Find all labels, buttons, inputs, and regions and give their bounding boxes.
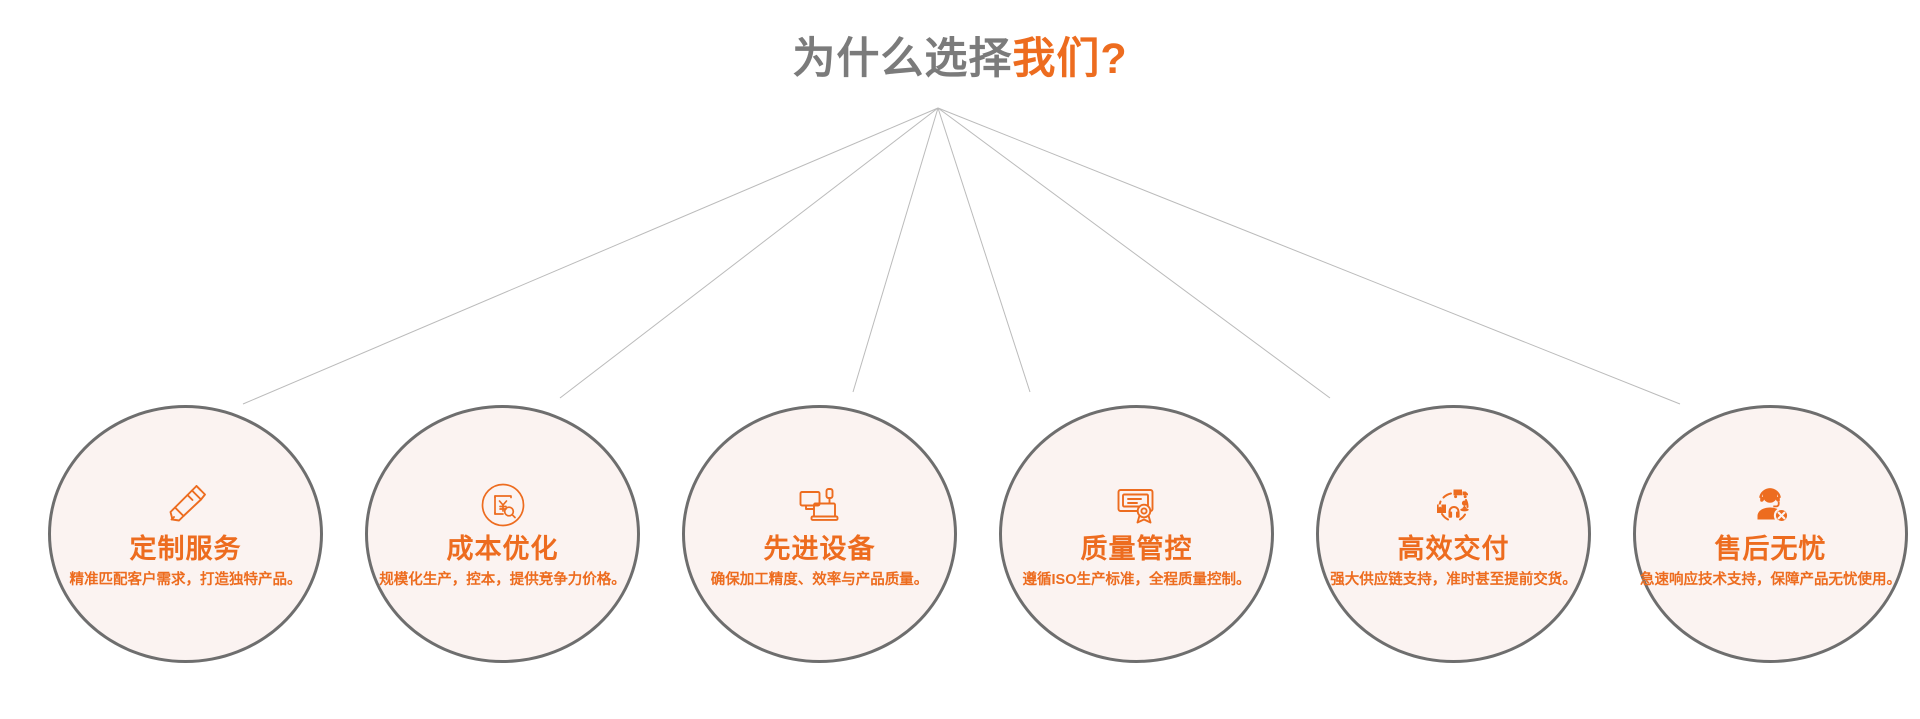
feature-circle-5[interactable]: 高效交付 强大供应链支持，准时甚至提前交货。 <box>1316 405 1591 663</box>
support-agent-icon <box>1745 479 1797 531</box>
connector-line-6 <box>938 108 1680 404</box>
connector-line-4 <box>938 108 1030 392</box>
feature-desc: 强大供应链支持，准时甚至提前交货。 <box>1330 572 1577 589</box>
feature-title: 高效交付 <box>1398 535 1510 565</box>
connector-line-3 <box>853 108 938 392</box>
supply-chain-icon <box>1428 479 1480 531</box>
connector-line-2 <box>560 108 938 398</box>
connector-line-1 <box>243 108 938 404</box>
feature-title: 成本优化 <box>447 535 559 565</box>
feature-desc: 精准匹配客户需求，打造独特产品。 <box>70 572 302 589</box>
feature-circle-3[interactable]: 先进设备 确保加工精度、效率与产品质量。 <box>682 405 957 663</box>
cost-search-icon <box>477 479 529 531</box>
page-title-main: 为什么选择 <box>792 35 1012 83</box>
feature-title: 售后无忧 <box>1715 535 1827 565</box>
feature-circle-6[interactable]: 售后无忧 急速响应技术支持，保障产品无忧使用。 <box>1633 405 1908 663</box>
computer-equipment-icon <box>794 479 846 531</box>
feature-desc: 规模化生产，控本，提供竞争力价格。 <box>379 572 626 589</box>
page-title-accent: 我们? <box>1012 35 1127 83</box>
feature-title: 质量管控 <box>1081 535 1193 565</box>
page-title: 为什么选择我们? <box>0 38 1920 81</box>
feature-desc: 遵循ISO生产标准，全程质量控制。 <box>1023 572 1251 589</box>
ruler-pencil-icon <box>160 479 212 531</box>
feature-circle-4[interactable]: 质量管控 遵循ISO生产标准，全程质量控制。 <box>999 405 1274 663</box>
feature-circle-2[interactable]: 成本优化 规模化生产，控本，提供竞争力价格。 <box>365 405 640 663</box>
feature-desc: 急速响应技术支持，保障产品无忧使用。 <box>1640 572 1901 589</box>
connector-line-5 <box>938 108 1330 398</box>
feature-desc: 确保加工精度、效率与产品质量。 <box>711 572 929 589</box>
feature-circle-1[interactable]: 定制服务 精准匹配客户需求，打造独特产品。 <box>48 405 323 663</box>
feature-title: 先进设备 <box>764 535 876 565</box>
why-choose-us-diagram: 为什么选择我们? 定制服务 精准匹配客户需求，打造独特产品。 <box>0 0 1920 719</box>
feature-title: 定制服务 <box>130 535 242 565</box>
certificate-badge-icon <box>1111 479 1163 531</box>
